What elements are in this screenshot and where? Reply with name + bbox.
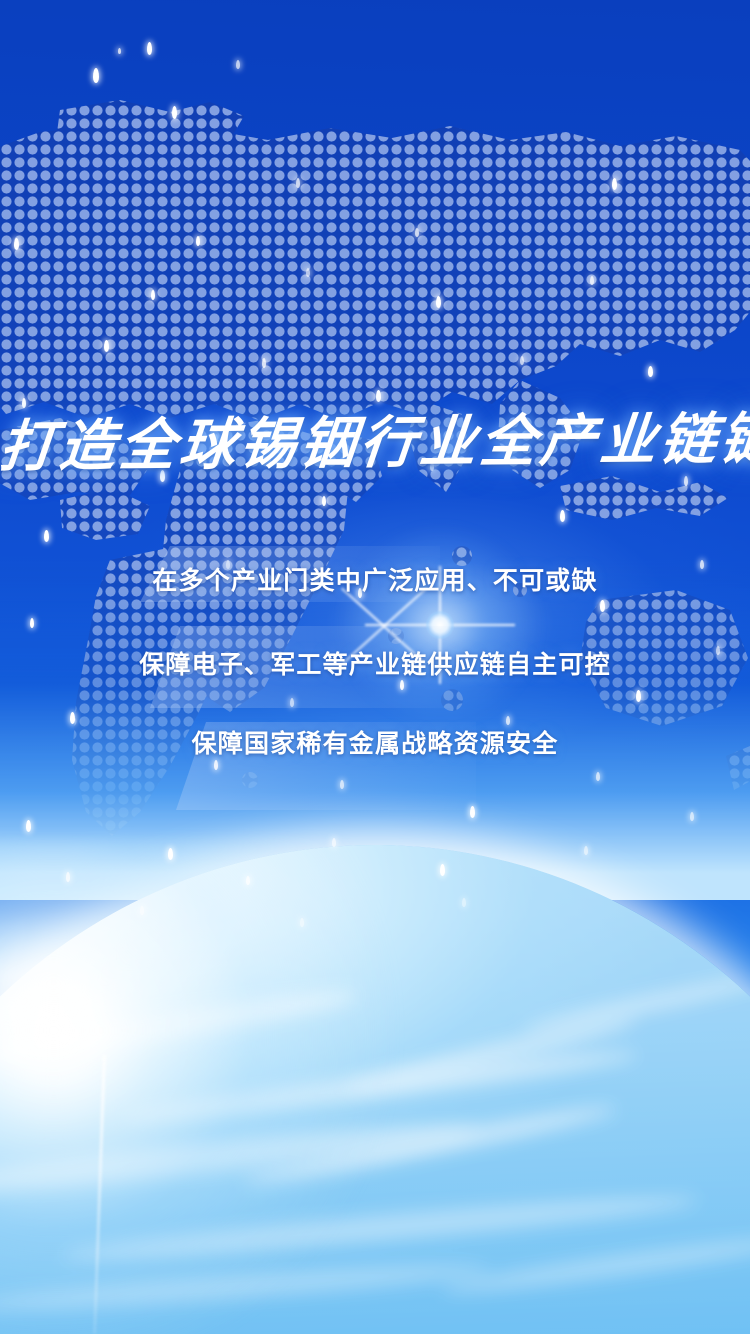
- subtitle-line-3: 保障国家稀有金属战略资源安全: [0, 724, 750, 760]
- page-title: 打造全球锡铟行业全产业链链主: [0, 411, 750, 475]
- subtitle-line-2: 保障电子、军工等产业链供应链自主可控: [0, 645, 750, 681]
- poster-canvas: 打造全球锡铟行业全产业链链主 在多个产业门类中广泛应用、不可或缺 保障电子、军工…: [0, 0, 750, 1334]
- subtitle-line-1: 在多个产业门类中广泛应用、不可或缺: [0, 561, 750, 597]
